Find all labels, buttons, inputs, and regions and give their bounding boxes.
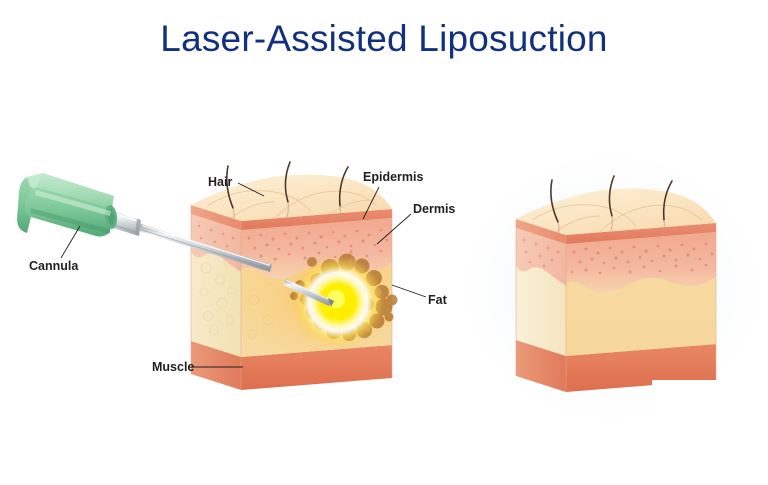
label-dermis: Dermis	[413, 203, 455, 216]
label-epidermis: Epidermis	[363, 171, 423, 184]
label-cannula: Cannula	[29, 260, 78, 273]
treated-skin-block	[191, 162, 422, 390]
illustration-canvas: Laser-Assisted Liposuction	[0, 0, 768, 485]
label-fat: Fat	[428, 294, 447, 307]
label-hair: Hair	[208, 176, 232, 189]
liposuction-illustration	[0, 0, 768, 485]
label-muscle: Muscle	[152, 361, 194, 374]
leader-cannula	[61, 226, 80, 258]
white-overlay-patch	[652, 380, 768, 420]
leader-fat	[392, 285, 426, 297]
